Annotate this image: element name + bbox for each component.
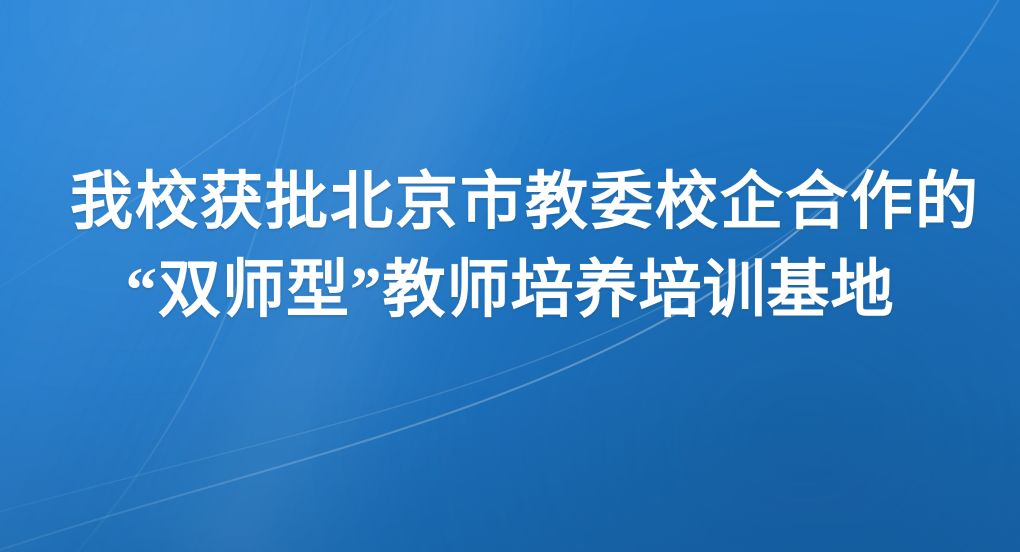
background-light-beam-soft (0, 0, 555, 552)
top-left-glow (0, 0, 580, 400)
decorative-arc-lower-left (70, 0, 312, 552)
decorative-arc-secondary (0, 0, 1015, 520)
bottom-edge-shading (0, 372, 1020, 552)
headline-block: 我校获批北京市教委校企合作的 “双师型”教师培养培训基地 (0, 0, 1020, 552)
headline-line-1: 我校获批北京市教委校企合作的 (70, 158, 950, 246)
decorative-arc-layer (0, 0, 1020, 552)
announcement-banner: 我校获批北京市教委校企合作的 “双师型”教师培养培训基地 (0, 0, 1020, 552)
decorative-arc-primary (0, 0, 1010, 552)
background-light-beam-main (77, 0, 717, 552)
bottom-right-shading (330, 32, 1020, 552)
decorative-arc-upper-left (0, 0, 400, 300)
headline-line-2: “双师型”教师培养培训基地 (70, 246, 950, 334)
